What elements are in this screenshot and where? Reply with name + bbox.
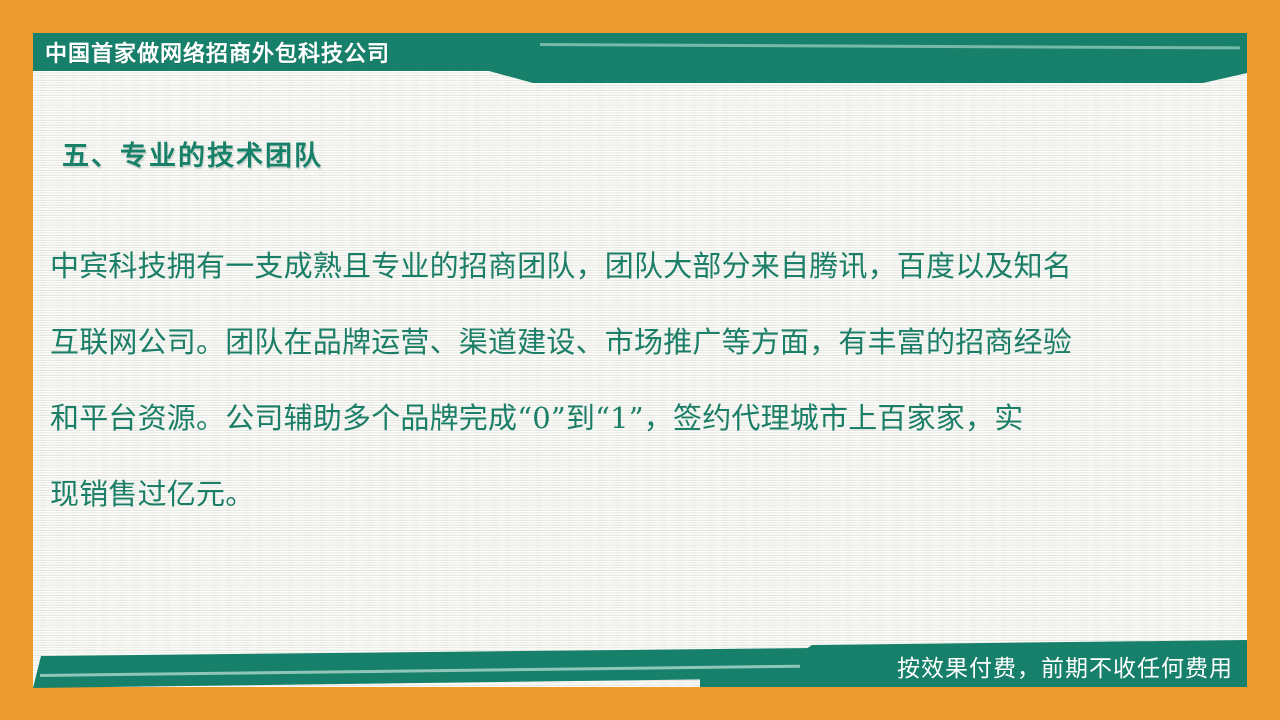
body-line-4: 现销售过亿元。 (50, 456, 1185, 532)
presentation-slide: 中国首家做网络招商外包科技公司 五、专业的技术团队 中宾科技拥有一支成熟且专业的… (0, 0, 1280, 720)
body-line-1: 中宾科技拥有一支成熟且专业的招商团队，团队大部分来自腾讯，百度以及知名 (50, 228, 1185, 304)
footer-tagline: 按效果付费，前期不收任何费用 (897, 649, 1233, 683)
body-paragraph: 中宾科技拥有一支成熟且专业的招商团队，团队大部分来自腾讯，百度以及知名 互联网公… (50, 228, 1185, 532)
body-line-3: 和平台资源。公司辅助多个品牌完成“0”到“1”，签约代理城市上百家家，实 (50, 380, 1185, 456)
section-heading: 五、专业的技术团队 (62, 134, 323, 173)
header-title: 中国首家做网络招商外包科技公司 (45, 36, 390, 68)
body-line-2: 互联网公司。团队在品牌运营、渠道建设、市场推广等方面，有丰富的招商经验 (50, 304, 1185, 380)
